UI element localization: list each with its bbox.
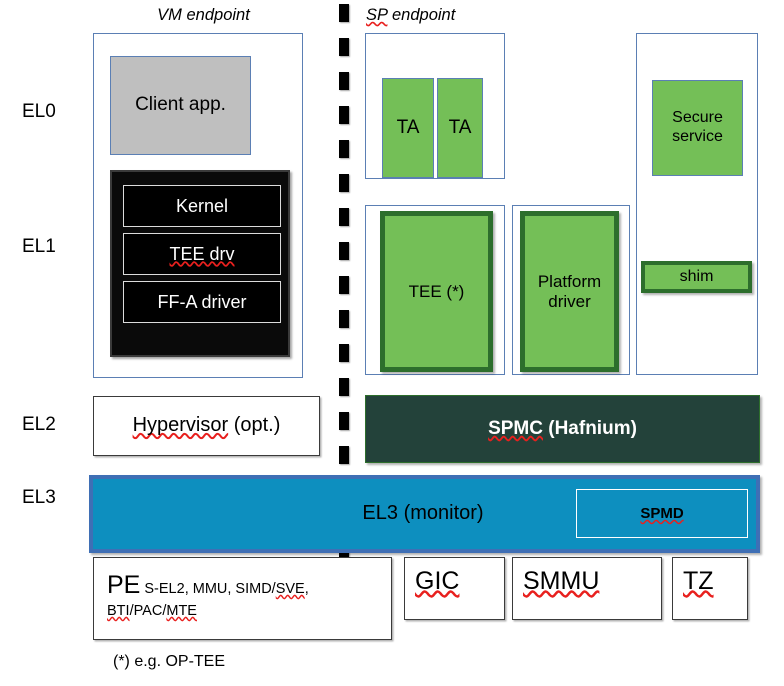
pe-detail-2: BTI/PAC/MTE: [107, 603, 383, 619]
gic-label: GIC: [415, 567, 459, 595]
el-label-el2: EL2: [22, 414, 56, 436]
secure-world-divider: [339, 0, 349, 556]
secure-service-line2: service: [672, 128, 723, 147]
smmu-box[interactable]: SMMU: [512, 557, 662, 620]
ffa-driver-box[interactable]: FF-A driver: [123, 281, 281, 323]
platform-driver-line2: driver: [548, 292, 591, 312]
kernel-stack-container: Kernel TEE drv FF-A driver: [110, 170, 290, 357]
pe-title: PE: [107, 571, 140, 599]
pe-detail-1: S-EL2, MMU, SIMD/SVE,: [140, 581, 308, 597]
sp-endpoint-header-rest: endpoint: [387, 6, 455, 24]
secure-service-box[interactable]: Secure service: [652, 80, 743, 176]
ta-box-2[interactable]: TA: [437, 78, 483, 178]
spmd-box[interactable]: SPMD: [576, 489, 748, 538]
gic-box[interactable]: GIC: [404, 557, 505, 620]
smmu-label: SMMU: [523, 567, 599, 595]
spmc-box[interactable]: SPMC (Hafnium): [365, 395, 760, 463]
kernel-box[interactable]: Kernel: [123, 185, 281, 227]
platform-driver-line1: Platform: [538, 272, 601, 292]
tz-label: TZ: [683, 567, 714, 595]
sp-endpoint-header-sp: SP: [366, 6, 387, 24]
ta-box-1[interactable]: TA: [382, 78, 434, 178]
el-label-el0: EL0: [22, 101, 56, 123]
shim-box[interactable]: shim: [641, 261, 752, 293]
hypervisor-box[interactable]: Hypervisor (opt.): [93, 396, 320, 456]
secure-service-line1: Secure: [672, 109, 723, 128]
client-app-box[interactable]: Client app.: [110, 56, 251, 155]
spmc-word: SPMC: [488, 418, 543, 440]
el-label-el3: EL3: [22, 487, 56, 509]
sp-endpoint-header: SP endpoint: [366, 6, 455, 25]
el-label-el1: EL1: [22, 236, 56, 258]
hypervisor-opt: (opt.): [228, 414, 280, 437]
el3-monitor-bar[interactable]: EL3 (monitor) SPMD: [89, 475, 760, 553]
tee-box[interactable]: TEE (*): [380, 211, 493, 372]
tee-driver-label: TEE drv: [169, 244, 234, 265]
vm-endpoint-header: VM endpoint: [131, 6, 276, 25]
pe-box[interactable]: PE S-EL2, MMU, SIMD/SVE, BTI/PAC/MTE: [93, 557, 392, 640]
diagram-canvas: VM endpoint SP endpoint EL0 EL1 EL2 EL3 …: [0, 0, 784, 686]
tee-driver-box[interactable]: TEE drv: [123, 233, 281, 275]
hypervisor-word: Hypervisor: [133, 414, 229, 437]
platform-driver-box[interactable]: Platform driver: [520, 211, 619, 372]
tz-box[interactable]: TZ: [672, 557, 748, 620]
spmc-hafnium: (Hafnium): [543, 418, 637, 440]
footnote: (*) e.g. OP-TEE: [113, 653, 225, 671]
spmd-label: SPMD: [640, 505, 683, 522]
